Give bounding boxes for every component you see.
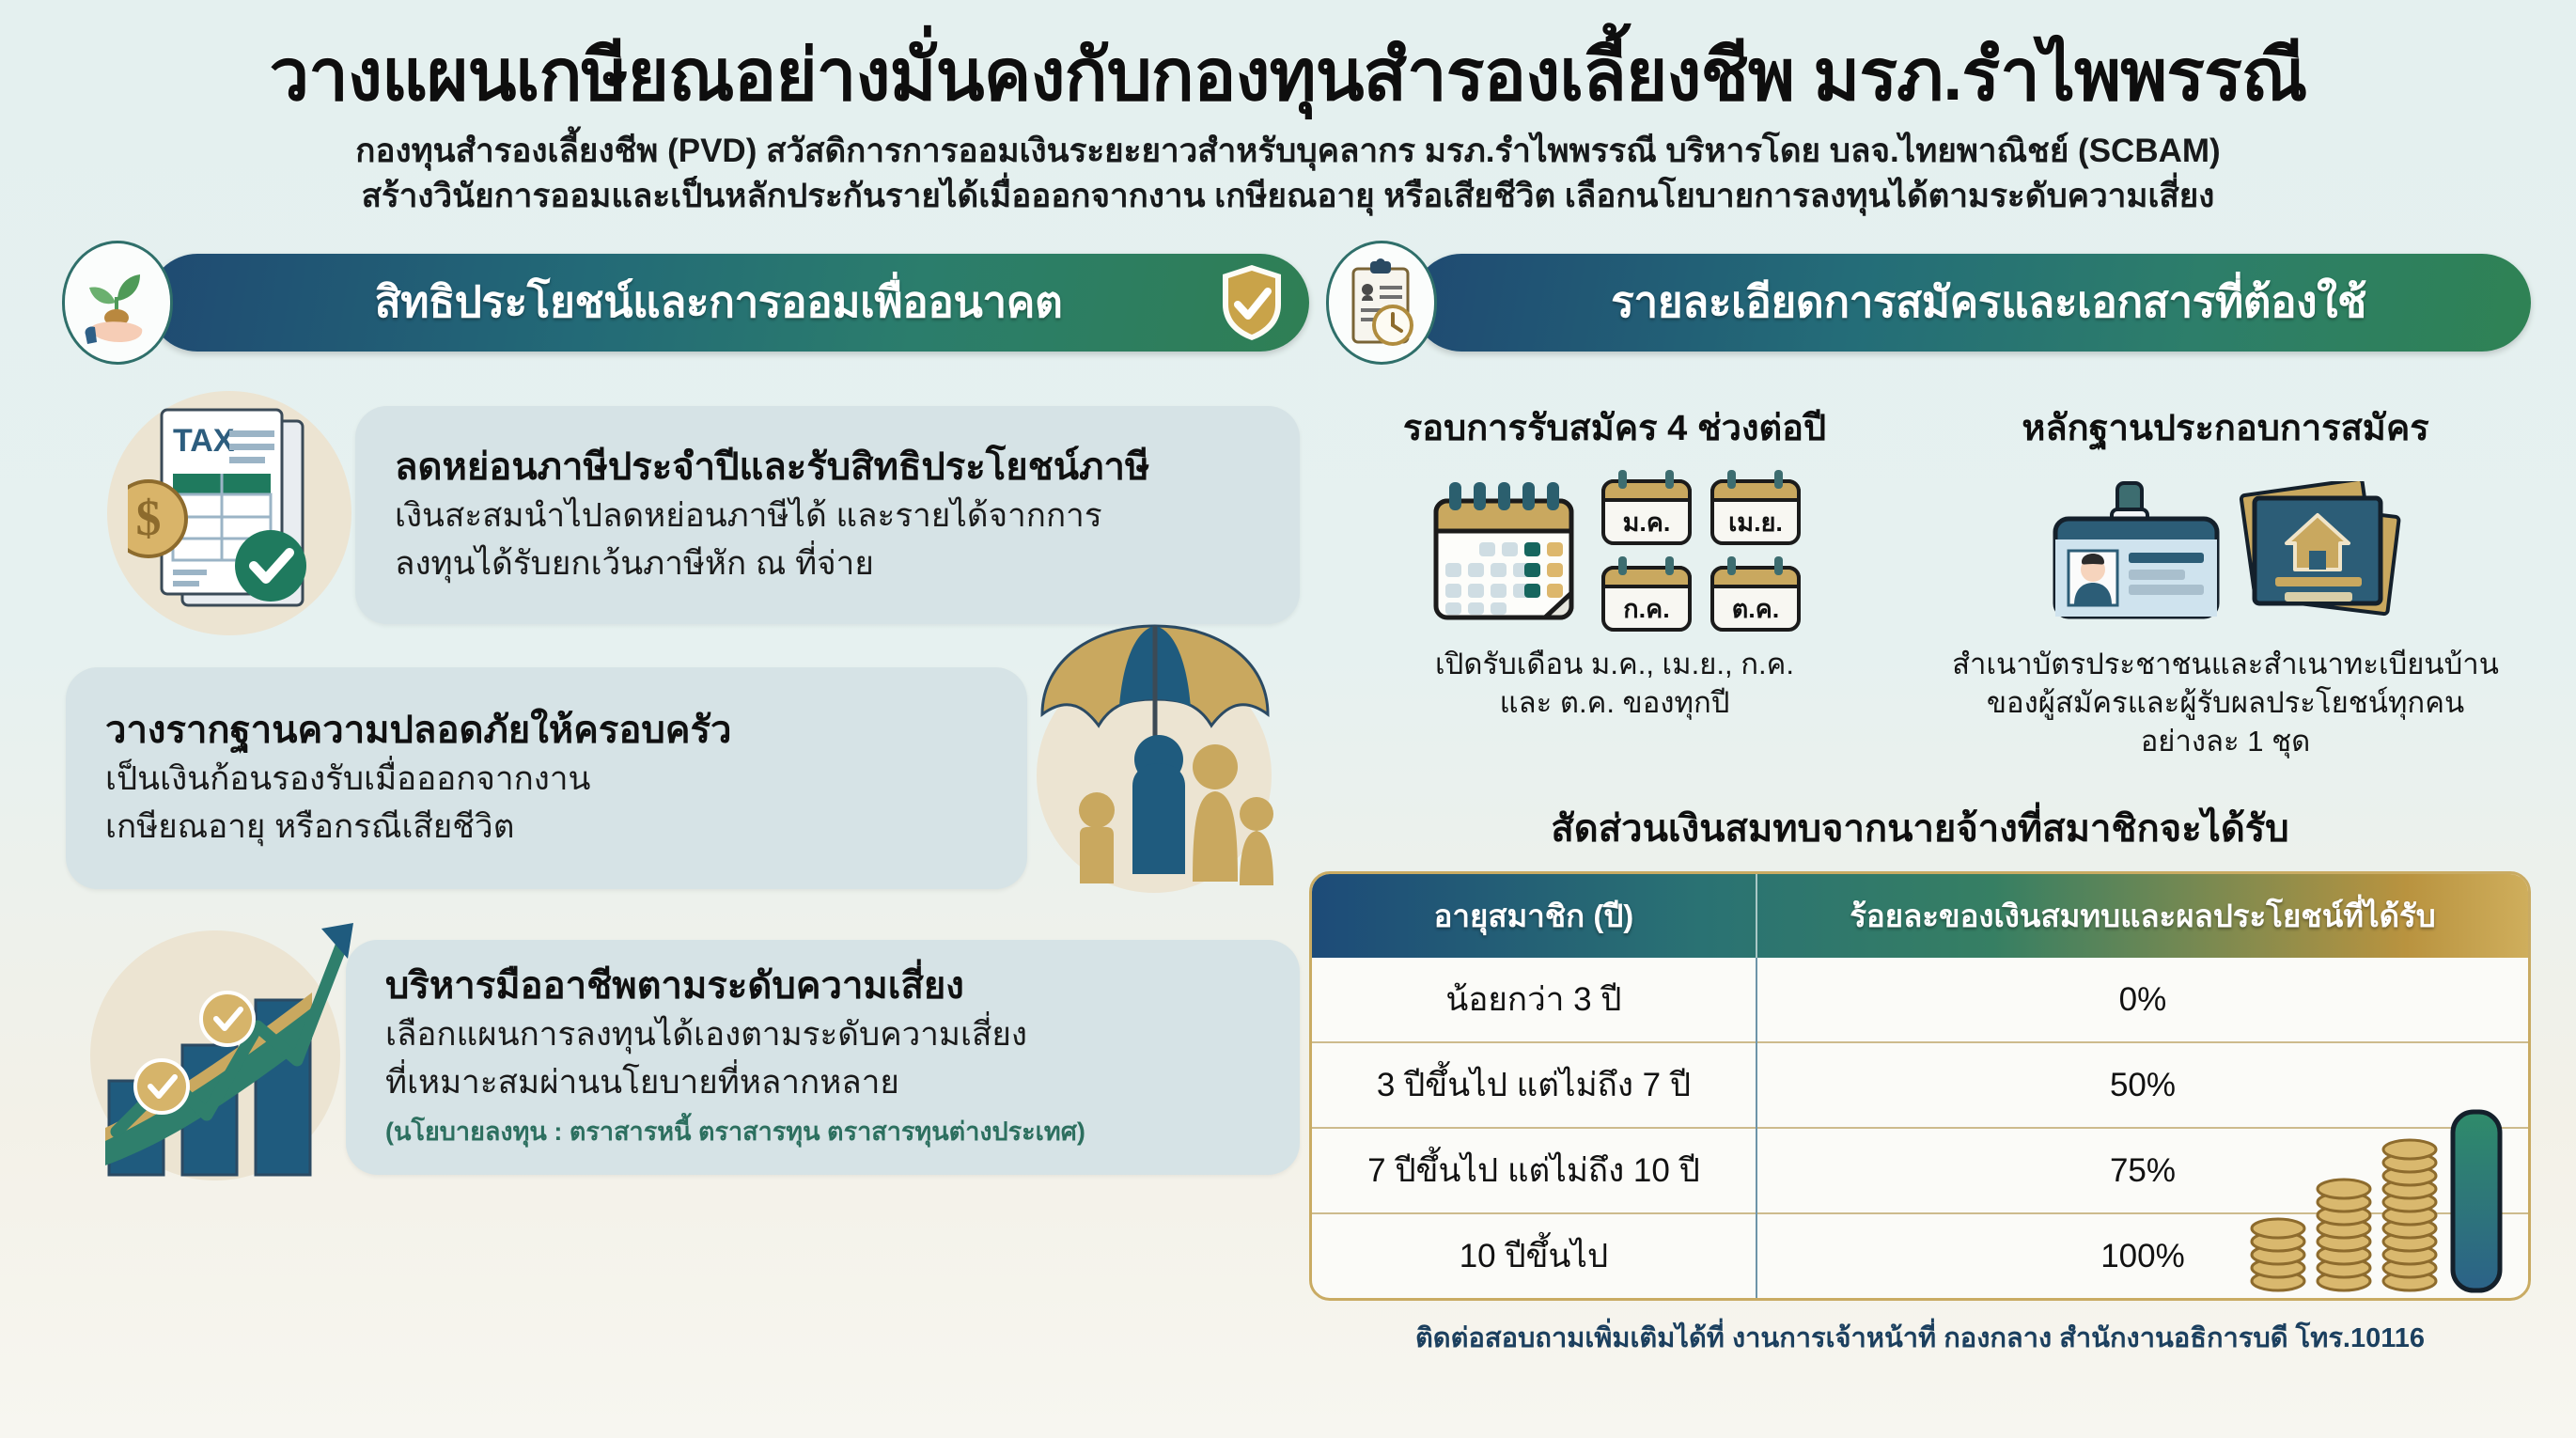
benefits-banner-bar: สิทธิประโยชน์และการออมเพื่ออนาคต: [148, 254, 1309, 352]
table-cell-percent: 100%: [1756, 1213, 2528, 1298]
table-cell-percent: 75%: [1756, 1128, 2528, 1213]
benefit-card-2-body: วางรากฐานความปลอดภัยให้ครอบครัว เป็นเงิน…: [66, 667, 1027, 889]
content-columns: สิทธิประโยชน์และการออมเพื่ออนาคต TAX: [0, 241, 2576, 1360]
month-label: ม.ค.: [1598, 502, 1695, 542]
table-cell-age: 10 ปีขึ้นไป: [1312, 1213, 1756, 1298]
month-chip: ก.ค.: [1598, 556, 1695, 633]
rounds-title: รอบการรับสมัคร 4 ช่วงต่อปี: [1309, 399, 1920, 456]
table-col-header-percent: ร้อยละของเงินสมทบและผลประโยชน์ที่ได้รับ: [1756, 874, 2528, 958]
application-column: รายละเอียดการสมัครและเอกสารที่ต้องใช้ รอ…: [1309, 241, 2531, 1360]
benefit-1-heading: ลดหย่อนภาษีประจำปีและรับสิทธิประโยชน์ภาษ…: [395, 444, 1260, 491]
benefit-1-text-line-1: เงินสะสมนำไปลดหย่อนภาษีได้ และรายได้จากก…: [395, 494, 1260, 539]
application-banner-bar: รายละเอียดการสมัครและเอกสารที่ต้องใช้: [1413, 254, 2531, 352]
benefit-card-1: TAX $ ลดหย่อนภาษีประจำปีและรับสิทธิประโย…: [45, 391, 1309, 637]
application-details-row: รอบการรับสมัคร 4 ช่วงต่อปี: [1309, 399, 2531, 761]
clipboard-clock-icon: [1326, 241, 1437, 365]
growth-chart-icon: [96, 902, 378, 1184]
subtitle-line-2: สร้างวินัยการออมและเป็นหลักประกันรายได้เ…: [0, 174, 2576, 219]
benefit-3-heading: บริหารมืออาชีพตามระดับความเสี่ยง: [385, 962, 1260, 1009]
contact-footer: ติดต่อสอบถามเพิ่มเติมได้ที่ งานการเจ้าหน…: [1309, 1316, 2531, 1359]
month-label: เม.ย.: [1707, 502, 1804, 542]
house-registration-icon: [2230, 481, 2409, 622]
month-chip: ม.ค.: [1598, 470, 1695, 547]
sprout-in-hand-icon: [62, 241, 173, 365]
rounds-caption-line-1: เปิดรับเดือน ม.ค., เม.ย., ก.ค.: [1309, 646, 1920, 684]
benefit-card-1-body: ลดหย่อนภาษีประจำปีและรับสิทธิประโยชน์ภาษ…: [355, 406, 1300, 624]
benefit-1-text-line-2: ลงทุนได้รับยกเว้นภาษีหัก ณ ที่จ่าย: [395, 542, 1260, 586]
table-cell-percent: 50%: [1756, 1042, 2528, 1128]
application-banner-title: รายละเอียดการสมัครและเอกสารที่ต้องใช้: [1471, 268, 2506, 336]
documents-title: หลักฐานประกอบการสมัคร: [1920, 399, 2531, 456]
table-cell-percent: 0%: [1756, 958, 2528, 1042]
contribution-table: อายุสมาชิก (ปี) ร้อยละของเงินสมทบและผลปร…: [1309, 871, 2531, 1301]
family-umbrella-icon: [1014, 602, 1296, 902]
shield-check-icon: [1219, 263, 1285, 342]
benefit-2-text-line-1: เป็นเงินก้อนรองรับเมื่อออกจากงาน: [105, 758, 988, 802]
month-chips: ม.ค. เม.ย.: [1598, 470, 1804, 633]
benefit-2-text-line-2: เกษียณอายุ หรือกรณีเสียชีวิต: [105, 805, 988, 850]
application-banner: รายละเอียดการสมัครและเอกสารที่ต้องใช้: [1326, 241, 2531, 365]
benefit-card-2: วางรากฐานความปลอดภัยให้ครอบครัว เป็นเงิน…: [45, 667, 1309, 902]
rounds-artwork: ม.ค. เม.ย.: [1309, 467, 1920, 636]
month-chip: ต.ค.: [1707, 556, 1804, 633]
documents-caption-line-3: อย่างละ 1 ชุด: [1920, 723, 2531, 761]
documents-artwork: [1920, 467, 2531, 636]
svg-text:$: $: [136, 490, 162, 546]
benefit-3-text-line-2: ที่เหมาะสมผ่านนโยบายที่หลากหลาย: [385, 1061, 1260, 1105]
table-cell-age: 7 ปีขึ้นไป แต่ไม่ถึง 10 ปี: [1312, 1128, 1756, 1213]
svg-text:TAX: TAX: [173, 423, 235, 459]
benefits-banner-title: สิทธิประโยชน์และการออมเพื่ออนาคต: [222, 268, 1215, 336]
tax-document-icon: TAX $: [128, 399, 363, 633]
table-row: 7 ปีขึ้นไป แต่ไม่ถึง 10 ปี 75%: [1312, 1128, 2528, 1213]
contribution-table-title: สัดส่วนเงินสมทบจากนายจ้างที่สมาชิกจะได้ร…: [1309, 798, 2531, 858]
benefit-3-policy-note: (นโยบายลงทุน : ตราสารหนี้ ตราสารทุน ตราส…: [385, 1111, 1260, 1151]
benefit-card-3-body: บริหารมืออาชีพตามระดับความเสี่ยง เลือกแผ…: [346, 940, 1300, 1175]
page-header: วางแผนเกษียณอย่างมั่นคงกับกองทุนสำรองเลี…: [0, 0, 2576, 220]
rounds-caption-line-2: และ ต.ค. ของทุกปี: [1309, 684, 1920, 723]
rounds-block: รอบการรับสมัคร 4 ช่วงต่อปี: [1309, 399, 1920, 761]
benefits-banner: สิทธิประโยชน์และการออมเพื่ออนาคต: [62, 241, 1309, 365]
documents-block: หลักฐานประกอบการสมัคร: [1920, 399, 2531, 761]
documents-caption-line-2: ของผู้สมัครและผู้รับผลประโยชน์ทุกคน: [1920, 684, 2531, 723]
benefit-2-heading: วางรากฐานความปลอดภัยให้ครอบครัว: [105, 707, 988, 754]
id-card-icon: [2042, 481, 2230, 622]
table-cell-age: 3 ปีขึ้นไป แต่ไม่ถึง 7 ปี: [1312, 1042, 1756, 1128]
calendar-icon: [1425, 473, 1583, 631]
table-header-row: อายุสมาชิก (ปี) ร้อยละของเงินสมทบและผลปร…: [1312, 874, 2528, 958]
benefits-column: สิทธิประโยชน์และการออมเพื่ออนาคต TAX: [45, 241, 1309, 1360]
table-row: 3 ปีขึ้นไป แต่ไม่ถึง 7 ปี 50%: [1312, 1042, 2528, 1128]
table-row: 10 ปีขึ้นไป 100%: [1312, 1213, 2528, 1298]
subtitle-line-1: กองทุนสำรองเลี้ยงชีพ (PVD) สวัสดิการการอ…: [0, 129, 2576, 174]
table-cell-age: น้อยกว่า 3 ปี: [1312, 958, 1756, 1042]
month-chip: เม.ย.: [1707, 470, 1804, 547]
page-title: วางแผนเกษียณอย่างมั่นคงกับกองทุนสำรองเลี…: [0, 36, 2576, 116]
documents-caption-line-1: สำเนาบัตรประชาชนและสำเนาทะเบียนบ้าน: [1920, 646, 2531, 684]
table-row: น้อยกว่า 3 ปี 0%: [1312, 958, 2528, 1042]
benefit-card-3: บริหารมืออาชีพตามระดับความเสี่ยง เลือกแผ…: [45, 934, 1309, 1190]
table-col-header-age: อายุสมาชิก (ปี): [1312, 874, 1756, 958]
month-label: ก.ค.: [1598, 588, 1695, 629]
month-label: ต.ค.: [1707, 588, 1804, 629]
benefit-3-text-line-1: เลือกแผนการลงทุนได้เองตามระดับความเสี่ยง: [385, 1013, 1260, 1057]
